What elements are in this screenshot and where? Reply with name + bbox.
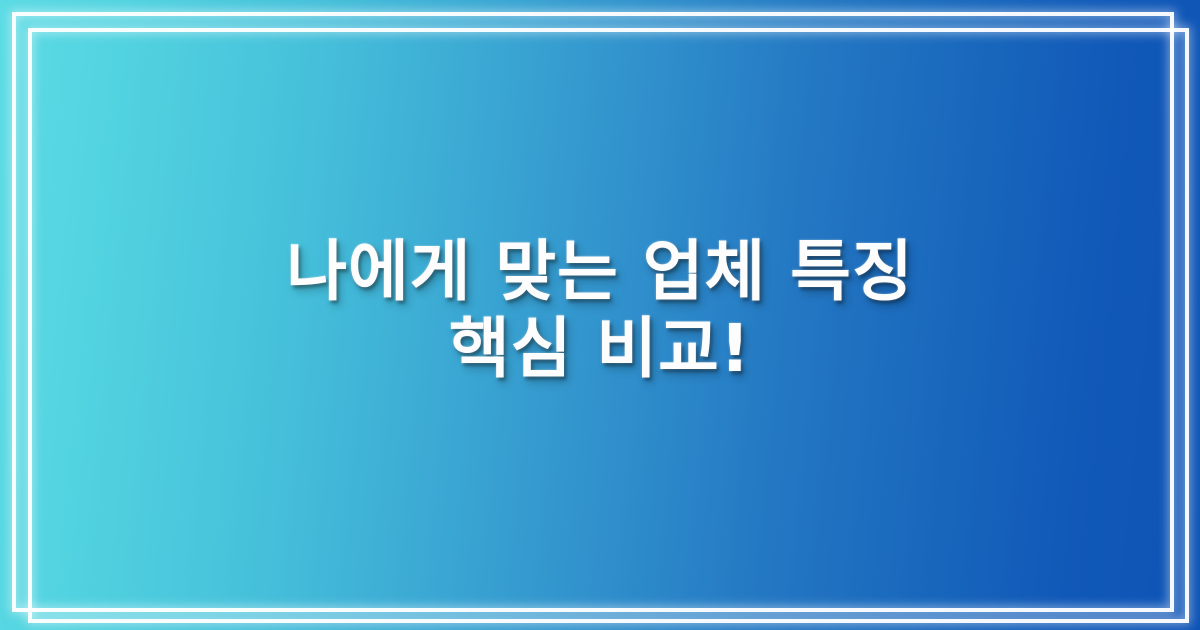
headline-line-2: 핵심 비교!	[449, 311, 751, 388]
promo-banner: 나에게 맞는 업체 특징 핵심 비교!	[0, 0, 1200, 630]
headline-line-1: 나에게 맞는 업체 특징	[286, 234, 913, 311]
headline-block: 나에게 맞는 업체 특징 핵심 비교!	[0, 0, 1200, 630]
